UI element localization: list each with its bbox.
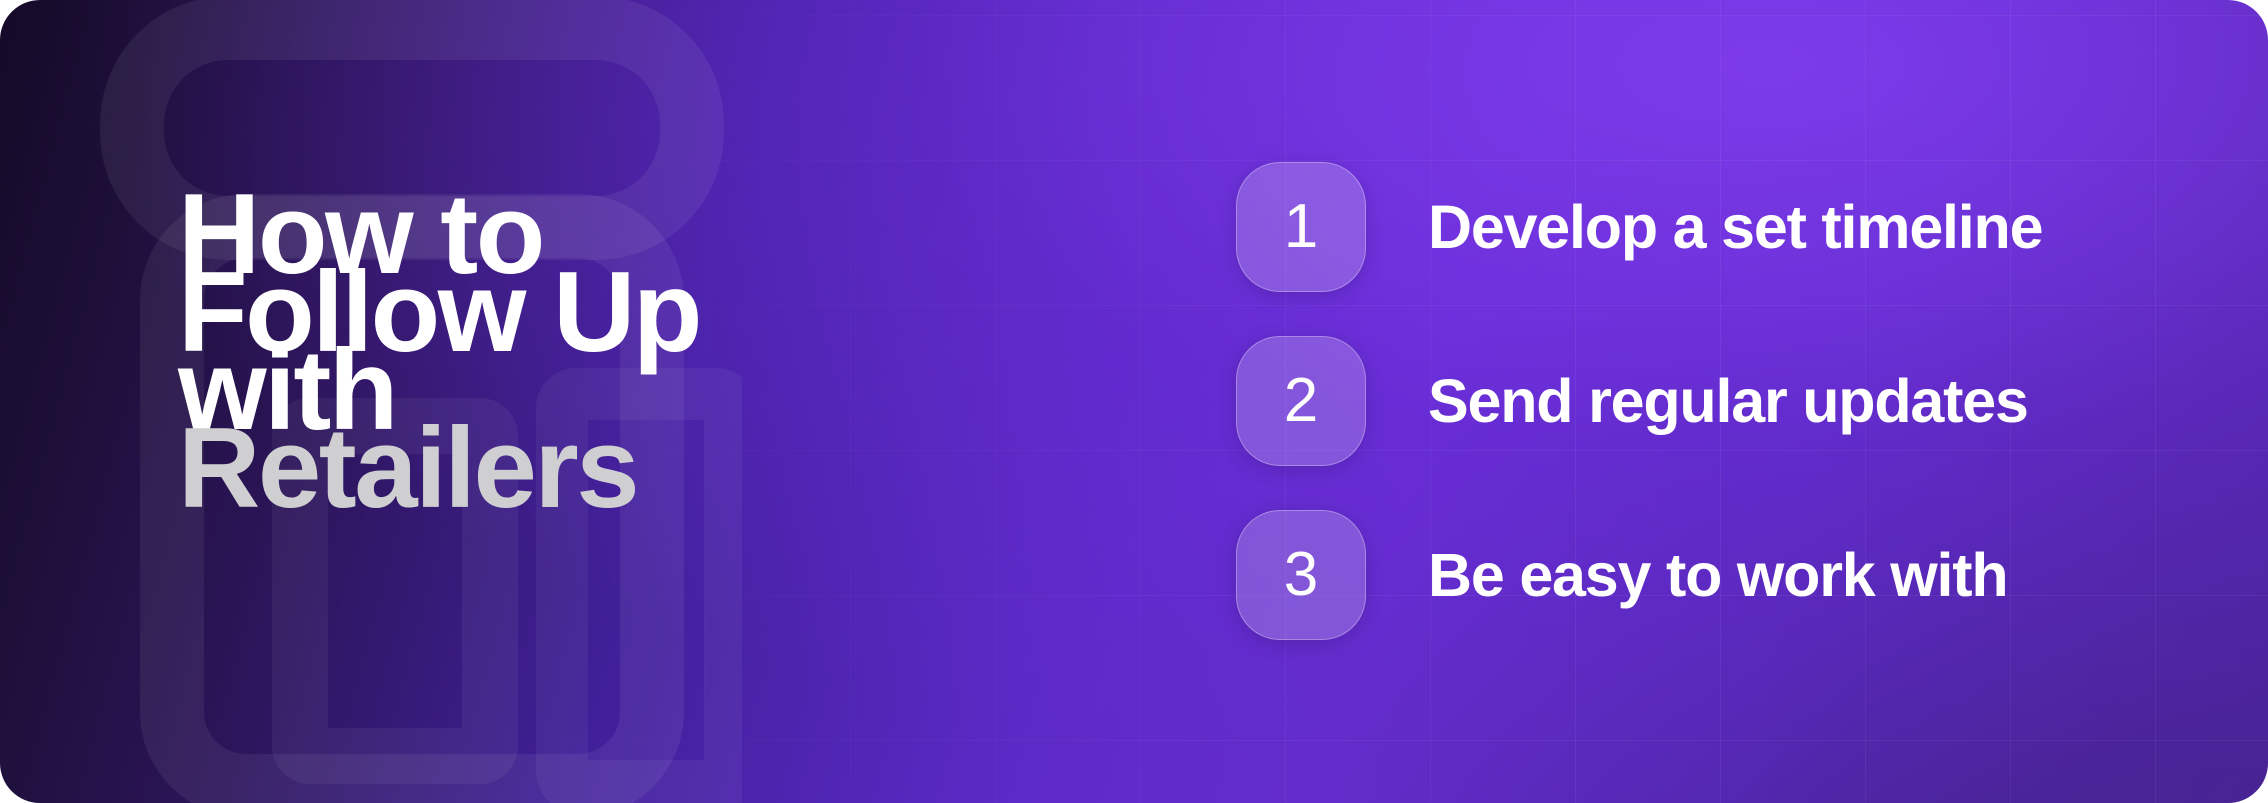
list-item: 3 Be easy to work with (1236, 511, 2042, 639)
step-number-badge-2: 2 (1236, 336, 1366, 466)
step-number-badge-1: 1 (1236, 162, 1366, 292)
step-label-1: Develop a set timeline (1428, 197, 2042, 258)
promo-banner: How to Follow Up with Retailers 1 Develo… (0, 0, 2268, 803)
list-item: 2 Send regular updates (1236, 337, 2042, 465)
headline-line-4: Retailers (178, 430, 798, 508)
list-item: 1 Develop a set timeline (1236, 163, 2042, 291)
step-number-badge-3: 3 (1236, 510, 1366, 640)
steps-list: 1 Develop a set timeline 2 Send regular … (1236, 163, 2042, 639)
step-label-2: Send regular updates (1428, 371, 2028, 432)
page-title: How to Follow Up with Retailers (178, 196, 798, 508)
step-label-3: Be easy to work with (1428, 545, 2007, 606)
